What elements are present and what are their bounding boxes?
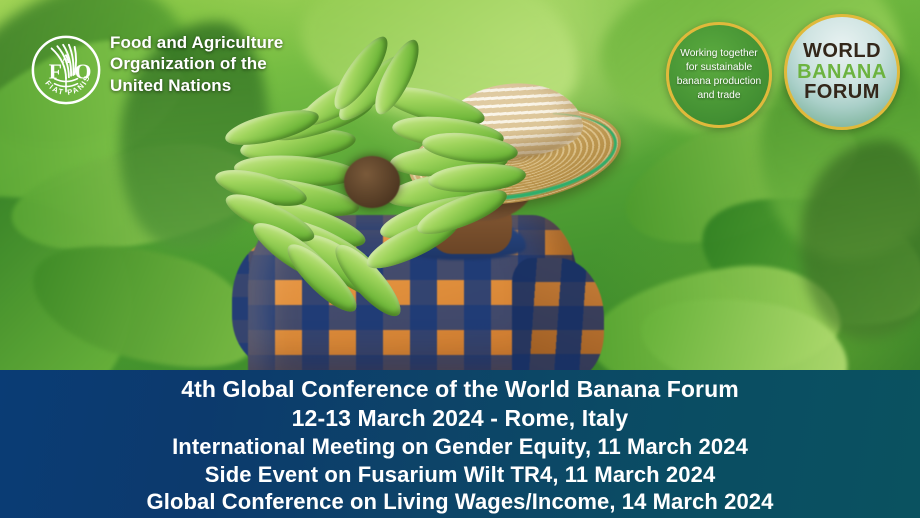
tagline-line-3: banana production	[677, 75, 761, 89]
tagline-line-4: and trade	[677, 89, 761, 103]
fao-name-line-2: Organization of the	[110, 53, 320, 74]
tagline-line-1: Working together	[677, 47, 761, 61]
wbf-line-banana: BANANA	[797, 62, 887, 82]
banner-line-date: 12-13 March 2024 - Rome, Italy	[292, 404, 629, 433]
wbf-line-world: WORLD	[803, 41, 881, 61]
banner-line-fusarium: Side Event on Fusarium Wilt TR4, 11 Marc…	[205, 461, 716, 489]
banner-line-title: 4th Global Conference of the World Banan…	[181, 375, 739, 404]
banana-bunch-core	[344, 156, 400, 208]
event-details-banner: 4th Global Conference of the World Banan…	[0, 370, 920, 518]
world-banana-forum-logo: WORLD BANANA FORUM	[784, 14, 900, 130]
tagline-line-2: for sustainable	[677, 61, 761, 75]
fao-organization-name: Food and Agriculture Organization of the…	[110, 32, 320, 96]
tagline-text: Working together for sustainable banana …	[670, 47, 768, 102]
wbf-line-forum: FORUM	[804, 82, 880, 102]
fao-name-line-1: Food and Agriculture	[110, 32, 320, 53]
fao-emblem-icon: F O A FIAT PANIS	[30, 34, 102, 106]
fao-name-line-3: United Nations	[110, 75, 320, 96]
banana-bunch	[232, 78, 562, 308]
svg-text:A: A	[62, 52, 71, 66]
banana-plantation-photo: F O A FIAT PANIS Food and Agriculture Or…	[0, 0, 920, 375]
fao-logo: F O A FIAT PANIS Food and Agriculture Or…	[30, 32, 310, 112]
tagline-badge: Working together for sustainable banana …	[666, 22, 772, 128]
banner-line-wages: Global Conference on Living Wages/Income…	[147, 488, 774, 516]
event-poster: F O A FIAT PANIS Food and Agriculture Or…	[0, 0, 920, 518]
banner-line-gender: International Meeting on Gender Equity, …	[172, 433, 748, 461]
